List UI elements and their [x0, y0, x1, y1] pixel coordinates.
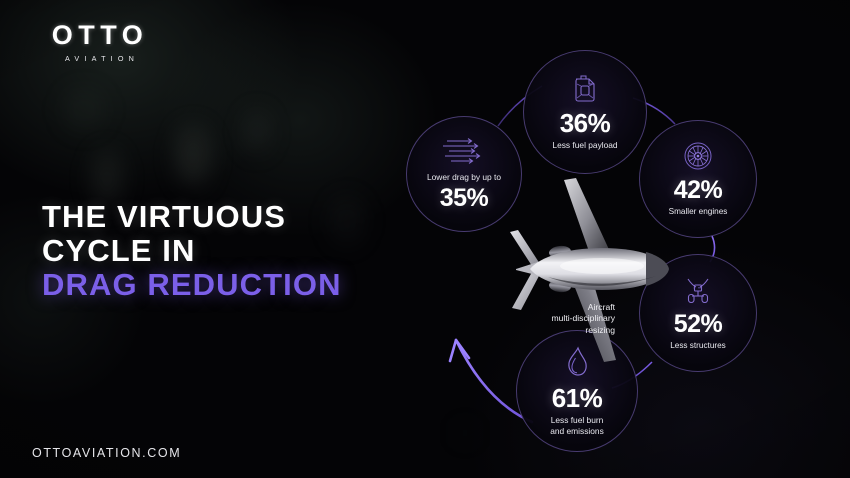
center-caption-line-1: Aircraft	[470, 302, 615, 313]
headline-line-2: CYCLE IN	[42, 234, 342, 268]
aircraft-center-caption: Aircraft multi-disciplinary resizing	[470, 302, 615, 336]
cycle-node-value: 36%	[560, 110, 611, 136]
cycle-node-value: 35%	[440, 186, 489, 211]
cycle-node-caption-line-2: and emissions	[550, 426, 604, 437]
virtuous-cycle-diagram: 36% Less fuel payload 42% Smaller	[390, 36, 790, 446]
cycle-node-caption: Lower drag by up to	[427, 172, 501, 183]
logo-tagline: AVIATION	[30, 54, 170, 63]
headline-line-1: THE VIRTUOUS	[42, 200, 342, 234]
fuel-can-icon	[572, 73, 598, 108]
airflow-lines-icon	[441, 137, 487, 170]
cycle-node-less-fuel-payload[interactable]: 36% Less fuel payload	[523, 50, 647, 174]
center-caption-line-3: resizing	[470, 325, 615, 336]
turbine-engine-icon	[683, 141, 713, 176]
headline-line-3: DRAG REDUCTION	[42, 268, 342, 302]
cycle-node-caption: Less fuel payload	[552, 140, 617, 151]
logo-wordmark: OTTO	[30, 22, 170, 49]
center-caption-line-2: multi-disciplinary	[470, 313, 615, 324]
cycle-node-caption-line-1: Less fuel burn	[551, 415, 604, 426]
otto-aviation-logo: OTTO AVIATION	[30, 22, 170, 63]
footer-website-url: OTTOAVIATION.COM	[32, 446, 181, 460]
cycle-node-value: 61%	[552, 385, 603, 411]
page-title: THE VIRTUOUS CYCLE IN DRAG REDUCTION	[42, 200, 342, 302]
landing-gear-icon	[683, 275, 713, 310]
